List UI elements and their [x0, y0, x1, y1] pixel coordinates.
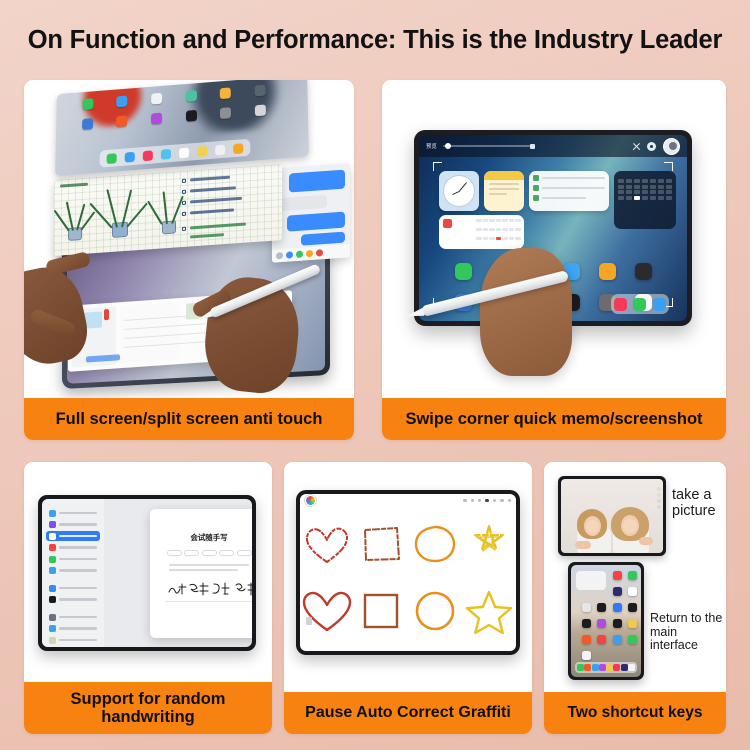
- caption-graffiti: Pause Auto Correct Graffiti: [284, 692, 532, 734]
- sidebar-item[interactable]: [46, 520, 100, 530]
- panel-auto-correct-graffiti[interactable]: Pause Auto Correct Graffiti: [284, 462, 532, 734]
- app-icon[interactable]: [599, 263, 616, 280]
- settings-sidebar[interactable]: [42, 499, 104, 647]
- return-interface-label: Return to the main interface: [650, 612, 726, 653]
- caption-shortcut: Two shortcut keys: [544, 692, 726, 734]
- square-shape-rough: [358, 522, 404, 566]
- color-wheel-icon[interactable]: [305, 495, 316, 506]
- tablet-device: [296, 490, 520, 655]
- calendar-dark-widget[interactable]: [614, 171, 676, 229]
- caption-swipe: Swipe corner quick memo/screenshot: [382, 398, 726, 440]
- avatar[interactable]: [663, 138, 680, 155]
- heart-shape-rough: [302, 522, 352, 566]
- home-app-icon-grid: [70, 84, 278, 131]
- notes-app-layer: [54, 164, 282, 256]
- gear-icon[interactable]: [647, 142, 656, 151]
- home-screen-layer: [55, 80, 309, 176]
- shapes-canvas[interactable]: [300, 510, 516, 645]
- sidebar-item[interactable]: [46, 595, 100, 605]
- panel-random-handwriting[interactable]: 完成 会试随手写: [24, 462, 272, 734]
- settings-detail-pane: 完成 会试随手写: [104, 499, 252, 647]
- caption-handwriting: Support for random handwriting: [24, 682, 272, 734]
- sidebar-item[interactable]: [46, 612, 100, 622]
- panel-fullscreen-image: [24, 80, 354, 398]
- take-picture-label: take a picture: [672, 488, 726, 519]
- tool-dots[interactable]: [463, 499, 511, 502]
- close-icon[interactable]: [632, 142, 640, 150]
- panel-swipe-corner-memo[interactable]: 预览: [382, 80, 726, 440]
- heart-shape-clean: [301, 588, 353, 634]
- dialog-description: [169, 564, 249, 571]
- shapes-row-drawn: [300, 510, 516, 578]
- reminders-widget[interactable]: [529, 171, 609, 211]
- sidebar-item[interactable]: [46, 543, 100, 553]
- shapes-row-corrected: [300, 578, 516, 646]
- panel-handwriting-image: 完成 会试随手写: [24, 462, 272, 682]
- photo-filter-dots: [657, 487, 661, 509]
- handwriting-ink-area[interactable]: [165, 580, 252, 602]
- eraser-icon[interactable]: [306, 617, 312, 625]
- sidebar-item[interactable]: [46, 624, 100, 634]
- notes-widget[interactable]: [484, 171, 524, 211]
- sidebar-item[interactable]: [46, 635, 100, 645]
- app-icon[interactable]: [455, 263, 472, 280]
- panel-two-shortcut-keys[interactable]: take a picture: [544, 462, 726, 734]
- clock-widget[interactable]: [439, 171, 479, 211]
- home-screen-tablet: [568, 562, 644, 680]
- home-app-grid: [575, 571, 637, 660]
- opacity-slider[interactable]: [443, 145, 535, 147]
- sidebar-item[interactable]: [46, 554, 100, 564]
- sidebar-item-apple-pencil[interactable]: [46, 531, 100, 541]
- home-dock: [99, 139, 250, 168]
- sidebar-item[interactable]: [46, 647, 100, 648]
- sidebar-item[interactable]: [46, 508, 100, 518]
- circle-shape-clean: [412, 588, 458, 634]
- page-title: On Function and Performance: This is the…: [0, 26, 750, 55]
- home-dock: [575, 662, 637, 673]
- hand: [480, 248, 572, 376]
- photo-of-two-girls: [561, 479, 663, 553]
- star-shape-rough: [465, 522, 513, 566]
- star-shape-clean: [464, 588, 514, 634]
- sidebar-item[interactable]: [46, 583, 100, 593]
- language-chips[interactable]: [159, 550, 252, 556]
- circle-shape-rough: [412, 522, 458, 566]
- dock: [611, 294, 669, 314]
- markup-toolbar[interactable]: 预览: [419, 135, 687, 157]
- dialog-title: 会试随手写: [159, 532, 252, 543]
- photo-tablet: [558, 476, 666, 556]
- panel-swipe-image: 预览: [382, 80, 726, 398]
- calendar-small-widget[interactable]: [439, 215, 524, 249]
- toolbar-label: 预览: [426, 142, 437, 150]
- panel-fullscreen-split-screen[interactable]: Full screen/split screen anti touch: [24, 80, 354, 440]
- drawing-toolbar[interactable]: [300, 494, 516, 507]
- handwriting-strokes: [165, 580, 252, 598]
- app-icon[interactable]: [635, 263, 652, 280]
- chat-app-layer: [272, 163, 350, 262]
- square-shape-clean: [358, 588, 404, 634]
- tablet-device: 完成 会试随手写: [38, 495, 256, 651]
- sidebar-item[interactable]: [46, 566, 100, 576]
- panel-shortcut-image: take a picture: [544, 462, 726, 692]
- handwriting-dialog[interactable]: 完成 会试随手写: [150, 509, 252, 638]
- panel-graffiti-image: [284, 462, 532, 692]
- caption-fullscreen: Full screen/split screen anti touch: [24, 398, 354, 440]
